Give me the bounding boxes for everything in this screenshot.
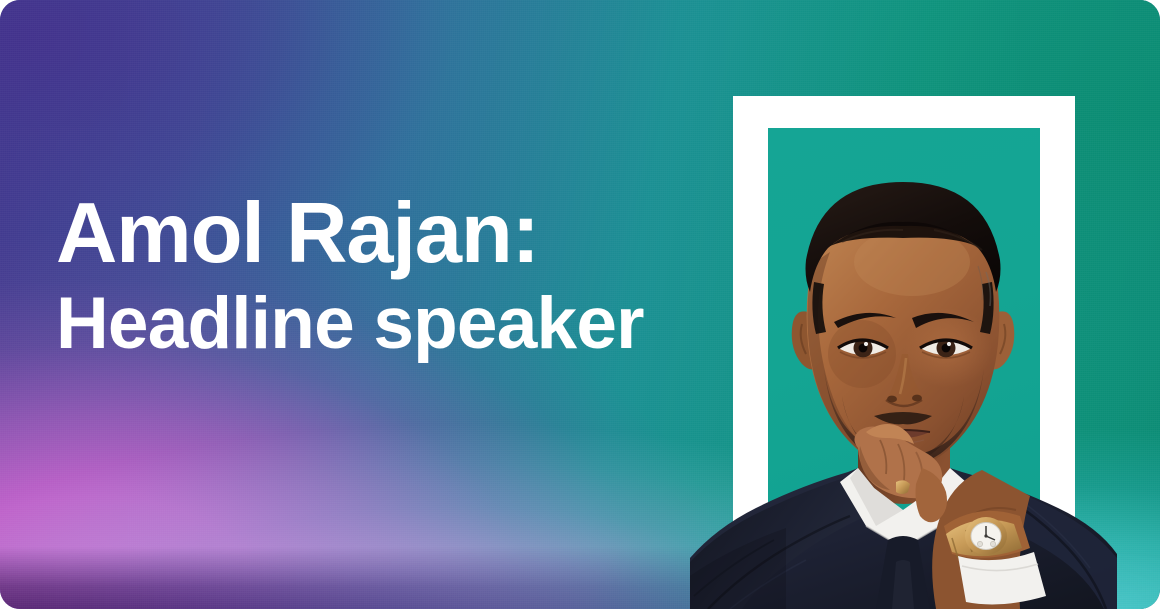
headline: Amol Rajan: Headline speaker xyxy=(56,186,644,366)
headline-line-secondary: Headline speaker xyxy=(56,282,644,366)
speaker-promo-banner: Amol Rajan: Headline speaker xyxy=(0,0,1160,609)
frame-inner-backdrop xyxy=(768,128,1040,609)
portrait-frame xyxy=(733,96,1075,609)
headline-line-primary: Amol Rajan: xyxy=(56,186,644,282)
